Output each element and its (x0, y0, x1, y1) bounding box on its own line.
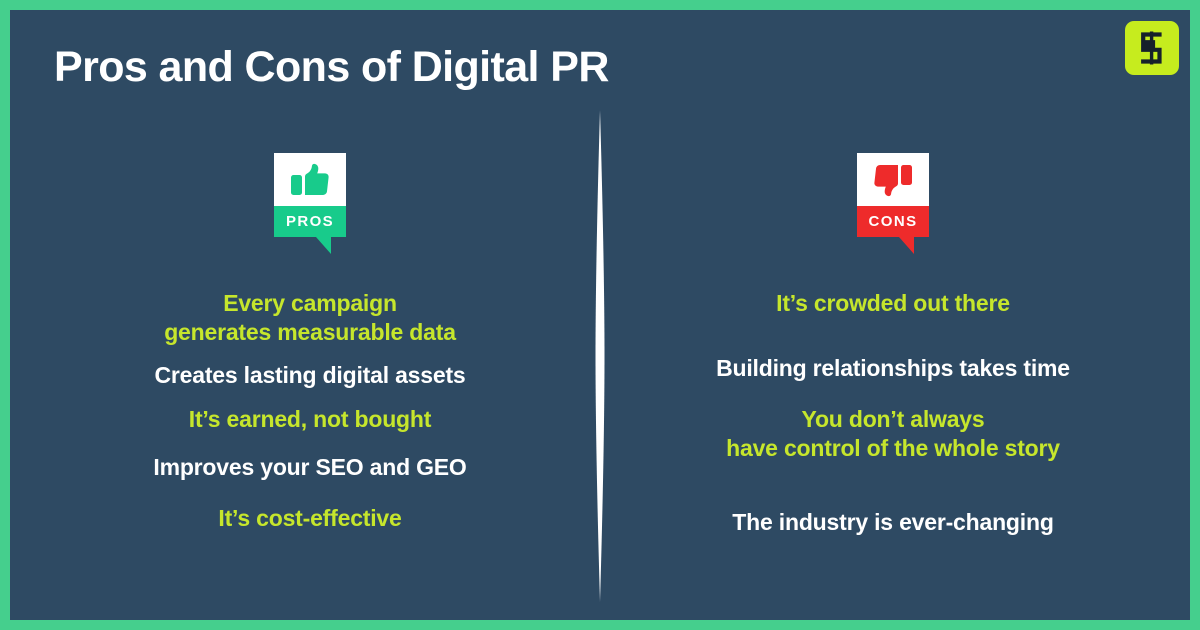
cons-badge: CONS (857, 153, 929, 245)
pros-badge-tail (316, 237, 331, 254)
thumbs-down-icon (873, 163, 913, 197)
cons-list: It’s crowded out there Building relation… (600, 289, 1186, 537)
pros-badge-label-area: PROS (274, 206, 346, 237)
pros-badge-icon-area (274, 153, 346, 206)
list-item: It’s crowded out there (776, 289, 1010, 318)
cons-badge-label-area: CONS (857, 206, 929, 237)
list-item: It’s cost-effective (218, 504, 401, 533)
comparison-columns: PROS Every campaign generates measurable… (10, 10, 1190, 620)
list-item: The industry is ever-changing (732, 508, 1053, 537)
list-item: It’s earned, not bought (189, 405, 431, 434)
pros-badge: PROS (274, 153, 346, 245)
list-item: You don’t always have control of the who… (726, 405, 1060, 464)
list-item: Improves your SEO and GEO (153, 453, 466, 482)
list-item: Building relationships takes time (716, 354, 1070, 383)
infographic-canvas: Pros and Cons of Digital PR PROS (0, 0, 1200, 630)
list-item: Creates lasting digital assets (154, 361, 465, 390)
pros-list: Every campaign generates measurable data… (20, 289, 600, 534)
thumbs-up-icon (290, 163, 330, 197)
cons-badge-label: CONS (869, 214, 918, 229)
cons-column: CONS It’s crowded out there Building rel… (600, 10, 1190, 620)
cons-badge-tail (899, 237, 914, 254)
cons-badge-icon-area (857, 153, 929, 206)
list-item: Every campaign generates measurable data (164, 289, 456, 348)
pros-column: PROS Every campaign generates measurable… (10, 10, 600, 620)
pros-badge-label: PROS (286, 214, 334, 229)
